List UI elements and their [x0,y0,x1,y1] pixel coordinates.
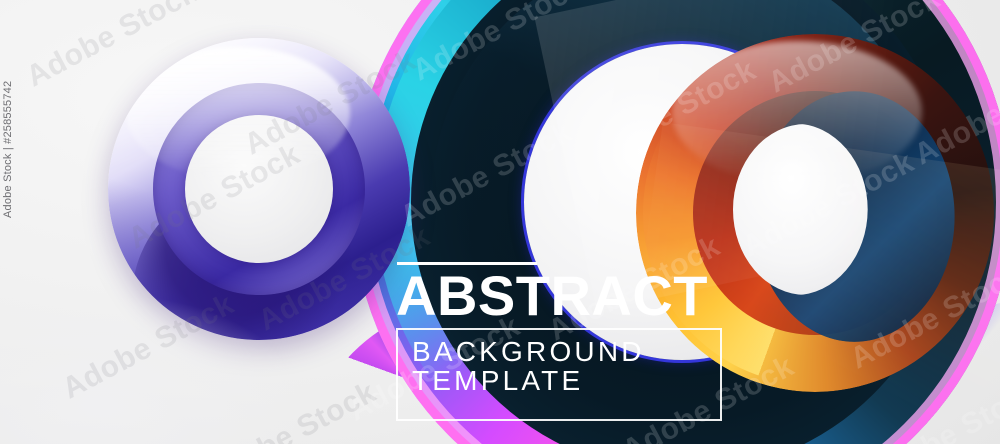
subtitle-line-2: TEMPLATE [412,367,722,396]
abstract-background-artboard: ABSTRACT BACKGROUND TEMPLATE Adobe Stock… [0,0,1000,444]
headline-block: ABSTRACT BACKGROUND TEMPLATE [396,262,726,324]
stock-credit-label: Adobe Stock | #258555742 [2,81,14,218]
subtitle-line-1: BACKGROUND [412,338,722,367]
page-title: ABSTRACT [396,269,726,324]
subtitle-block: BACKGROUND TEMPLATE [412,338,722,396]
